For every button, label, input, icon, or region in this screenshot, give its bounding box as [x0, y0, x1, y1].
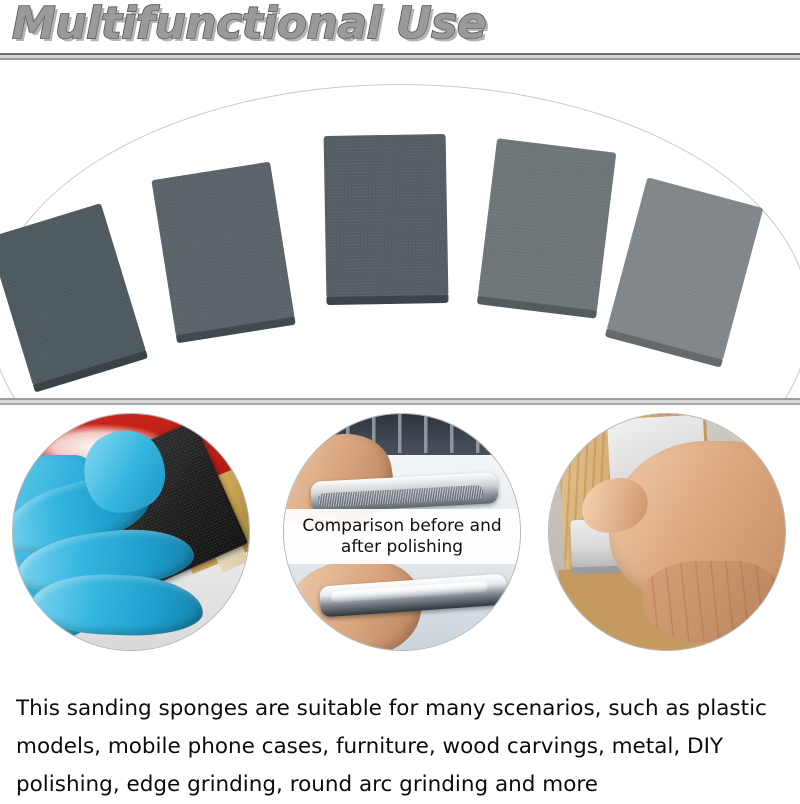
comparison-caption-band: Comparison before and after polishing	[283, 509, 521, 564]
product-description: This sanding sponges are suitable for ma…	[16, 690, 796, 804]
scene-phone-polishing: Comparison before and after polishing	[283, 413, 521, 651]
photo-phone-polishing: Comparison before and after polishing	[283, 413, 521, 651]
fingers	[643, 561, 782, 643]
scene-wood-edge-sanding	[548, 413, 786, 651]
title-underline-rule	[0, 53, 800, 60]
page-title: Multifunctional Use	[12, 0, 486, 49]
pad-face	[324, 134, 449, 298]
pad-face	[151, 162, 294, 337]
comparison-caption-text: Comparison before and after polishing	[283, 516, 521, 558]
scene-glove-sanding	[12, 413, 250, 651]
photo-wood-edge-sanding	[548, 413, 786, 651]
sanding-pad-3	[324, 134, 449, 298]
hero-product-image	[0, 62, 800, 400]
photo-glove-sanding	[12, 413, 250, 651]
pad-face	[478, 138, 617, 311]
sanding-pad-2	[151, 162, 294, 337]
sanding-pad-4	[478, 138, 617, 311]
title-banner: Multifunctional Use	[0, 0, 800, 62]
section-divider	[0, 398, 800, 405]
